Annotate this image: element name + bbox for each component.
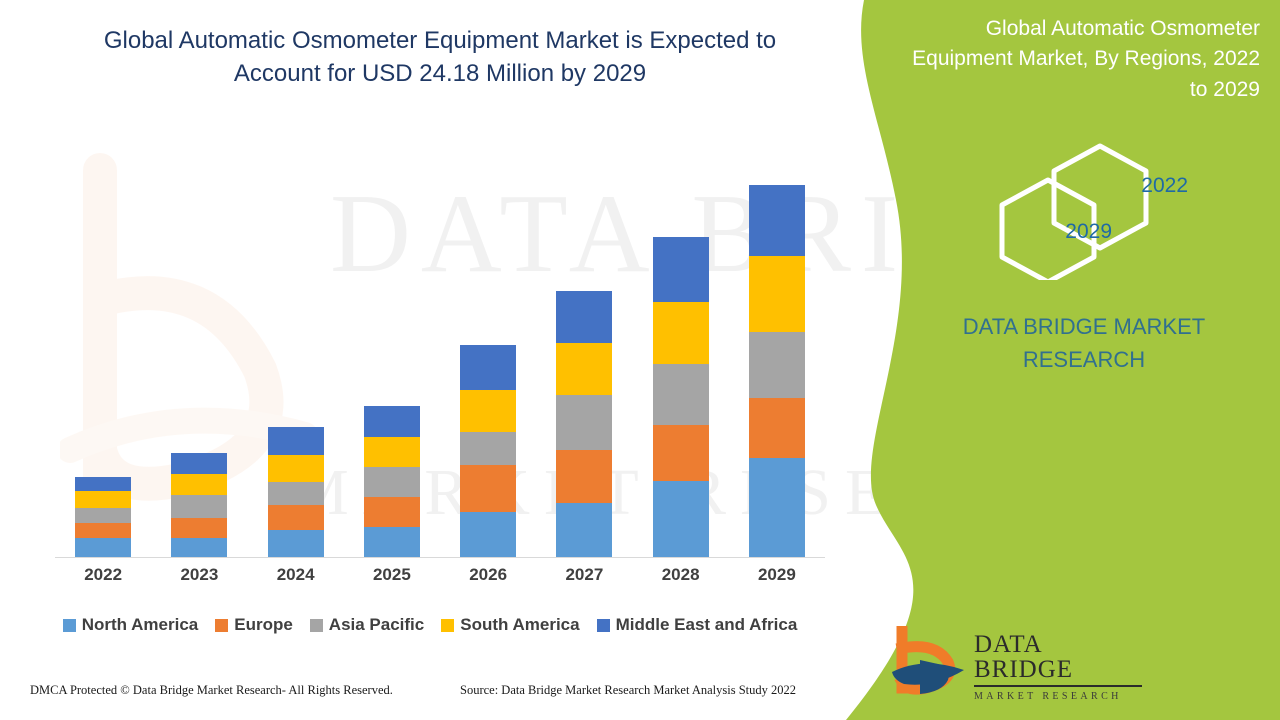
- source-note: Source: Data Bridge Market Research Mark…: [460, 683, 796, 698]
- bar-segment[interactable]: [364, 497, 420, 527]
- x-axis-tick-label: 2026: [440, 565, 536, 585]
- bar-segment[interactable]: [749, 458, 805, 557]
- hexagon-pair-icon: [990, 140, 1180, 280]
- legend-item[interactable]: South America: [441, 615, 579, 635]
- bar-segment[interactable]: [171, 453, 227, 474]
- legend-label: Asia Pacific: [329, 615, 424, 635]
- bar-segment[interactable]: [364, 406, 420, 437]
- bar-group[interactable]: [268, 427, 324, 557]
- panel-brand: DATA BRIDGE MARKET RESEARCH: [924, 310, 1244, 376]
- x-axis-line: [55, 557, 825, 558]
- x-axis-tick-label: 2025: [344, 565, 440, 585]
- bar-segment[interactable]: [171, 538, 227, 557]
- hex-label-start-year: 2022: [1141, 174, 1188, 198]
- logo-name: DATA BRIDGE: [974, 632, 1144, 682]
- bar-segment[interactable]: [75, 508, 131, 523]
- bar-segment[interactable]: [749, 398, 805, 458]
- bar-segment[interactable]: [171, 474, 227, 495]
- x-axis-tick-label: 2022: [55, 565, 151, 585]
- bar-group[interactable]: [653, 237, 709, 557]
- panel-brand-line-1: DATA BRIDGE MARKET: [924, 310, 1244, 343]
- bar-segment[interactable]: [268, 455, 324, 482]
- bar-segment[interactable]: [653, 364, 709, 425]
- legend-label: South America: [460, 615, 579, 635]
- logo-underline: [974, 685, 1142, 687]
- bar-segment[interactable]: [268, 505, 324, 530]
- bar-segment[interactable]: [556, 503, 612, 557]
- bar-group[interactable]: [749, 185, 805, 557]
- logo-text: DATA BRIDGE MARKET RESEARCH: [974, 632, 1144, 702]
- bar-segment[interactable]: [653, 237, 709, 302]
- bar-segment[interactable]: [460, 432, 516, 465]
- bar-group[interactable]: [75, 477, 131, 557]
- panel-brand-line-2: RESEARCH: [924, 343, 1244, 376]
- panel-content: Global Automatic Osmometer Equipment Mar…: [860, 0, 1280, 720]
- bar-segment[interactable]: [460, 465, 516, 512]
- bar-segment[interactable]: [75, 477, 131, 491]
- bar-segment[interactable]: [556, 291, 612, 343]
- bar-segment[interactable]: [653, 425, 709, 481]
- bar-segment[interactable]: [653, 481, 709, 557]
- x-axis-tick-label: 2027: [536, 565, 632, 585]
- bar-segment[interactable]: [268, 482, 324, 505]
- bar-segment[interactable]: [460, 345, 516, 390]
- bar-segment[interactable]: [268, 427, 324, 455]
- bar-segment[interactable]: [268, 530, 324, 557]
- bar-segment[interactable]: [364, 437, 420, 467]
- bar-chart-plot: [55, 120, 825, 557]
- bar-segment[interactable]: [75, 538, 131, 557]
- bar-segment[interactable]: [364, 527, 420, 557]
- legend-swatch: [63, 619, 76, 632]
- chart-area: Global Automatic Osmometer Equipment Mar…: [0, 0, 860, 720]
- bar-group[interactable]: [364, 406, 420, 557]
- legend-swatch: [597, 619, 610, 632]
- legend-label: Europe: [234, 615, 293, 635]
- bar-segment[interactable]: [75, 523, 131, 538]
- bar-segment[interactable]: [364, 467, 420, 497]
- data-bridge-logo-mark-icon: [890, 626, 966, 696]
- bar-segment[interactable]: [460, 390, 516, 432]
- legend-label: North America: [82, 615, 199, 635]
- bar-group[interactable]: [460, 345, 516, 557]
- legend-item[interactable]: Europe: [215, 615, 293, 635]
- legend-swatch: [441, 619, 454, 632]
- bar-segment[interactable]: [171, 495, 227, 518]
- x-axis-tick-label: 2024: [248, 565, 344, 585]
- data-bridge-logo: DATA BRIDGE MARKET RESEARCH: [890, 620, 1140, 700]
- chart-legend: North AmericaEuropeAsia PacificSouth Ame…: [0, 615, 860, 635]
- dmca-notice: DMCA Protected © Data Bridge Market Rese…: [30, 683, 393, 698]
- x-axis-tick-label: 2029: [729, 565, 825, 585]
- legend-label: Middle East and Africa: [616, 615, 798, 635]
- bar-segment[interactable]: [75, 491, 131, 508]
- bar-segment[interactable]: [556, 450, 612, 503]
- footer: DMCA Protected © Data Bridge Market Rese…: [0, 683, 860, 705]
- legend-item[interactable]: Asia Pacific: [310, 615, 424, 635]
- bar-group[interactable]: [556, 291, 612, 557]
- x-axis-tick-label: 2023: [151, 565, 247, 585]
- x-axis-labels: 20222023202420252026202720282029: [55, 565, 825, 595]
- logo-tagline: MARKET RESEARCH: [974, 691, 1144, 702]
- bar-group[interactable]: [171, 453, 227, 557]
- bar-segment[interactable]: [556, 395, 612, 450]
- bar-segment[interactable]: [653, 302, 709, 364]
- bar-segment[interactable]: [460, 512, 516, 557]
- hex-label-end-year: 2029: [1065, 220, 1112, 244]
- bar-segment[interactable]: [556, 343, 612, 395]
- page-title: Global Automatic Osmometer Equipment Mar…: [60, 24, 820, 90]
- legend-item[interactable]: Middle East and Africa: [597, 615, 798, 635]
- bar-segment[interactable]: [171, 518, 227, 538]
- bar-segment[interactable]: [749, 256, 805, 332]
- x-axis-tick-label: 2028: [633, 565, 729, 585]
- panel-title: Global Automatic Osmometer Equipment Mar…: [900, 14, 1260, 105]
- legend-swatch: [310, 619, 323, 632]
- legend-swatch: [215, 619, 228, 632]
- bar-segment[interactable]: [749, 185, 805, 256]
- legend-item[interactable]: North America: [63, 615, 199, 635]
- bar-segment[interactable]: [749, 332, 805, 398]
